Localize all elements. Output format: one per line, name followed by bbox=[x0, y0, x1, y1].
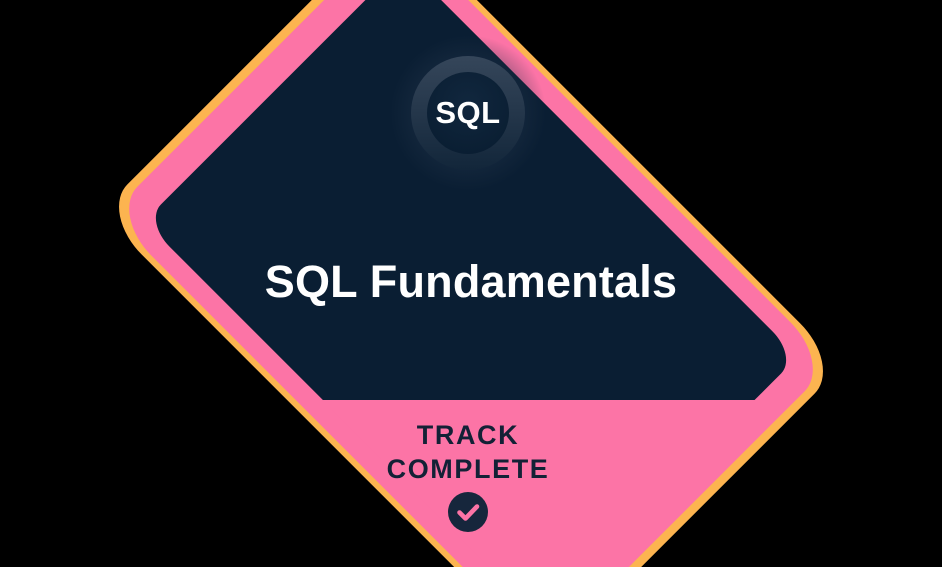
check-icon bbox=[448, 492, 488, 532]
ring-label: SQL bbox=[435, 95, 500, 130]
page-title: SQL Fundamentals bbox=[265, 256, 677, 307]
status-line-secondary: COMPLETE bbox=[387, 454, 550, 484]
badge-canvas: SQL SQL Fundamentals TRACK COMPLETE bbox=[0, 0, 942, 567]
track-completion-badge: SQL SQL Fundamentals TRACK COMPLETE bbox=[0, 0, 942, 567]
status-line-primary: TRACK bbox=[417, 420, 520, 450]
